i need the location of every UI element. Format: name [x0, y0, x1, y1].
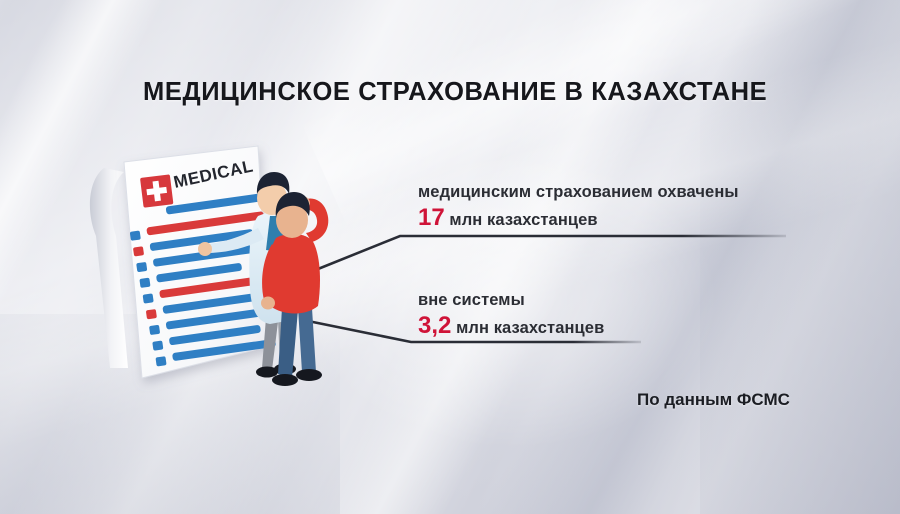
document-curl — [90, 168, 128, 368]
callout-uninsured: вне системы 3,2 млн казахстанцев — [418, 291, 604, 340]
callout-uninsured-unit: млн казахстанцев — [456, 319, 604, 337]
medical-cross-icon — [140, 174, 173, 207]
callout-insured-label: медицинским страхованием охвачены — [418, 183, 739, 202]
callout-insured-number: 17 — [418, 204, 445, 231]
source-note: По данным ФСМС — [637, 390, 790, 410]
callout-uninsured-label: вне системы — [418, 291, 604, 310]
callout-uninsured-value-row: 3,2 млн казахстанцев — [418, 312, 604, 340]
callout-insured-unit: млн казахстанцев — [449, 211, 597, 229]
callout-uninsured-number: 3,2 — [418, 312, 451, 339]
callout-insured-value-row: 17 млн казахстанцев — [418, 204, 739, 232]
medical-illustration: MEDICAL — [80, 140, 380, 410]
callout-insured: медицинским страхованием охвачены 17 млн… — [418, 183, 739, 232]
infographic-stage: МЕДИЦИНСКОЕ СТРАХОВАНИЕ В КАЗАХСТАНЕ мед… — [0, 0, 900, 514]
